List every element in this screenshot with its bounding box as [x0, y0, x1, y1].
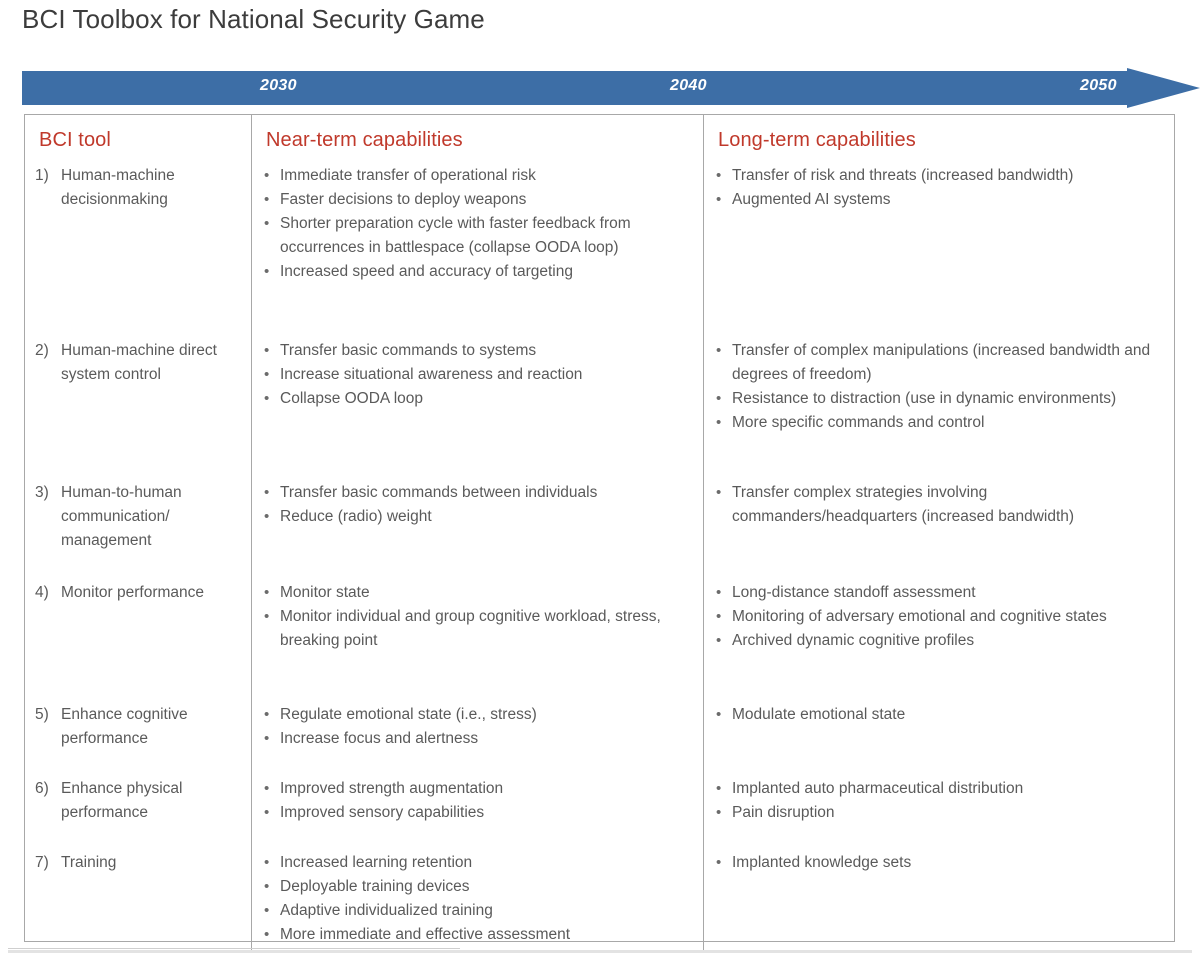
table-row: Increased learning retentionDeployable t… — [262, 851, 695, 953]
table-row: 4)Monitor performance — [35, 581, 243, 703]
long-term-row-list: Transfer of risk and threats (increased … — [714, 164, 1166, 953]
long-term-cell: Transfer of risk and threats (increased … — [714, 164, 1166, 212]
capability-item: Implanted auto pharmaceutical distributi… — [714, 777, 1166, 801]
column-long-term: Long-term capabilities Transfer of risk … — [703, 115, 1174, 953]
row-number: 4) — [35, 581, 61, 605]
near-term-cell: Transfer basic commands to systemsIncrea… — [262, 339, 695, 411]
table-row: 3)Human-to-human communication/ manageme… — [35, 481, 243, 581]
long-term-cell: Long-distance standoff assessmentMonitor… — [714, 581, 1166, 653]
table-row: Transfer complex strategies involving co… — [714, 481, 1166, 581]
capability-item: Monitor individual and group cognitive w… — [262, 605, 695, 653]
row-number: 2) — [35, 339, 61, 363]
capability-item: More specific commands and control — [714, 411, 1166, 435]
table-row: 6)Enhance physical performance — [35, 777, 243, 851]
capability-item: Transfer of risk and threats (increased … — [714, 164, 1166, 188]
capability-item: Transfer basic commands between individu… — [262, 481, 695, 505]
bci-tool-label: Human-machine direct system control — [61, 339, 243, 387]
capability-item: Augmented AI systems — [714, 188, 1166, 212]
bci-tool-label: Enhance physical performance — [61, 777, 243, 825]
table-row: Improved strength augmentationImproved s… — [262, 777, 695, 851]
table-row: 7)Training — [35, 851, 243, 953]
capability-item: Modulate emotional state — [714, 703, 1166, 727]
capability-item: Adaptive individualized training — [262, 899, 695, 923]
column-bci-tool: BCI tool 1)Human-machine decisionmaking2… — [25, 115, 251, 953]
bci-tool-cell: 1)Human-machine decisionmaking — [35, 164, 243, 212]
table-row: 1)Human-machine decisionmaking — [35, 164, 243, 339]
bci-tool-cell: 3)Human-to-human communication/ manageme… — [35, 481, 243, 553]
near-term-cell: Regulate emotional state (i.e., stress)I… — [262, 703, 695, 751]
timeline-arrow: 2030 2040 2050 — [22, 68, 1200, 108]
capability-item: More immediate and effective assessment — [262, 923, 695, 947]
capability-item: Faster decisions to deploy weapons — [262, 188, 695, 212]
column-near-term: Near-term capabilities Immediate transfe… — [251, 115, 703, 953]
near-term-cell: Transfer basic commands between individu… — [262, 481, 695, 529]
capability-item: Improved sensory capabilities — [262, 801, 695, 825]
capability-item: Long-distance standoff assessment — [714, 581, 1166, 605]
capability-item: Monitoring of adversary emotional and co… — [714, 605, 1166, 629]
capability-item: Increased speed and accuracy of targetin… — [262, 260, 695, 284]
capability-item: Regulate emotional state (i.e., stress) — [262, 703, 695, 727]
bci-tool-cell: 2)Human-machine direct system control — [35, 339, 243, 387]
table-row: Implanted auto pharmaceutical distributi… — [714, 777, 1166, 851]
row-number: 6) — [35, 777, 61, 801]
long-term-cell: Modulate emotional state — [714, 703, 1166, 727]
table-row: Transfer basic commands to systemsIncrea… — [262, 339, 695, 481]
table-row: Regulate emotional state (i.e., stress)I… — [262, 703, 695, 777]
capability-item: Monitor state — [262, 581, 695, 605]
bci-tool-cell: 5)Enhance cognitive performance — [35, 703, 243, 751]
capability-item: Archived dynamic cognitive profiles — [714, 629, 1166, 653]
near-term-cell: Monitor stateMonitor individual and grou… — [262, 581, 695, 653]
capability-item: Transfer basic commands to systems — [262, 339, 695, 363]
capability-item: Increase focus and alertness — [262, 727, 695, 751]
bci-tool-label: Enhance cognitive performance — [61, 703, 243, 751]
bci-tool-label: Training — [61, 851, 243, 875]
capability-item: Immediate transfer of operational risk — [262, 164, 695, 188]
long-term-cell: Implanted auto pharmaceutical distributi… — [714, 777, 1166, 825]
capability-item: Transfer complex strategies involving co… — [714, 481, 1166, 529]
bci-tool-label: Monitor performance — [61, 581, 243, 605]
column-header-bci-tool: BCI tool — [39, 129, 243, 152]
bci-tool-label: Human-to-human communication/ management — [61, 481, 243, 553]
capabilities-table: BCI tool 1)Human-machine decisionmaking2… — [24, 114, 1175, 942]
long-term-cell: Implanted knowledge sets — [714, 851, 1166, 875]
bci-tool-row-list: 1)Human-machine decisionmaking2)Human-ma… — [35, 164, 243, 953]
capability-item: Increased learning retention — [262, 851, 695, 875]
capability-item: Increase situational awareness and react… — [262, 363, 695, 387]
table-row: 5)Enhance cognitive performance — [35, 703, 243, 777]
row-number: 1) — [35, 164, 61, 188]
long-term-cell: Transfer of complex manipulations (incre… — [714, 339, 1166, 435]
column-header-near-term: Near-term capabilities — [266, 129, 695, 152]
near-term-cell: Improved strength augmentationImproved s… — [262, 777, 695, 825]
table-row: Long-distance standoff assessmentMonitor… — [714, 581, 1166, 703]
slide-canvas: BCI Toolbox for National Security Game 2… — [0, 0, 1200, 968]
column-header-long-term: Long-term capabilities — [718, 129, 1166, 152]
footer-rule — [8, 950, 1192, 953]
table-row: Implanted knowledge sets — [714, 851, 1166, 953]
timeline-mark-2040: 2040 — [670, 77, 707, 95]
table-row: Transfer of risk and threats (increased … — [714, 164, 1166, 339]
bci-tool-cell: 6)Enhance physical performance — [35, 777, 243, 825]
near-term-cell: Increased learning retentionDeployable t… — [262, 851, 695, 947]
page-title: BCI Toolbox for National Security Game — [22, 4, 485, 35]
row-number: 5) — [35, 703, 61, 727]
row-number: 3) — [35, 481, 61, 505]
bci-tool-cell: 4)Monitor performance — [35, 581, 243, 605]
capability-item: Improved strength augmentation — [262, 777, 695, 801]
table-row: Immediate transfer of operational riskFa… — [262, 164, 695, 339]
timeline-mark-2050: 2050 — [1080, 77, 1117, 95]
capability-item: Resistance to distraction (use in dynami… — [714, 387, 1166, 411]
capability-item: Deployable training devices — [262, 875, 695, 899]
capability-item: Reduce (radio) weight — [262, 505, 695, 529]
table-row: Transfer basic commands between individu… — [262, 481, 695, 581]
long-term-cell: Transfer complex strategies involving co… — [714, 481, 1166, 529]
capability-item: Collapse OODA loop — [262, 387, 695, 411]
table-row: Modulate emotional state — [714, 703, 1166, 777]
near-term-cell: Immediate transfer of operational riskFa… — [262, 164, 695, 284]
timeline-arrow-shape — [22, 68, 1200, 108]
timeline-mark-2030: 2030 — [260, 77, 297, 95]
capability-item: Transfer of complex manipulations (incre… — [714, 339, 1166, 387]
near-term-row-list: Immediate transfer of operational riskFa… — [262, 164, 695, 953]
table-row: Monitor stateMonitor individual and grou… — [262, 581, 695, 703]
capability-item: Shorter preparation cycle with faster fe… — [262, 212, 695, 260]
bci-tool-label: Human-machine decisionmaking — [61, 164, 243, 212]
capability-item: Pain disruption — [714, 801, 1166, 825]
bci-tool-cell: 7)Training — [35, 851, 243, 875]
footer-rule-secondary — [8, 948, 460, 949]
table-row: Transfer of complex manipulations (incre… — [714, 339, 1166, 481]
table-row: 2)Human-machine direct system control — [35, 339, 243, 481]
row-number: 7) — [35, 851, 61, 875]
capability-item: Implanted knowledge sets — [714, 851, 1166, 875]
